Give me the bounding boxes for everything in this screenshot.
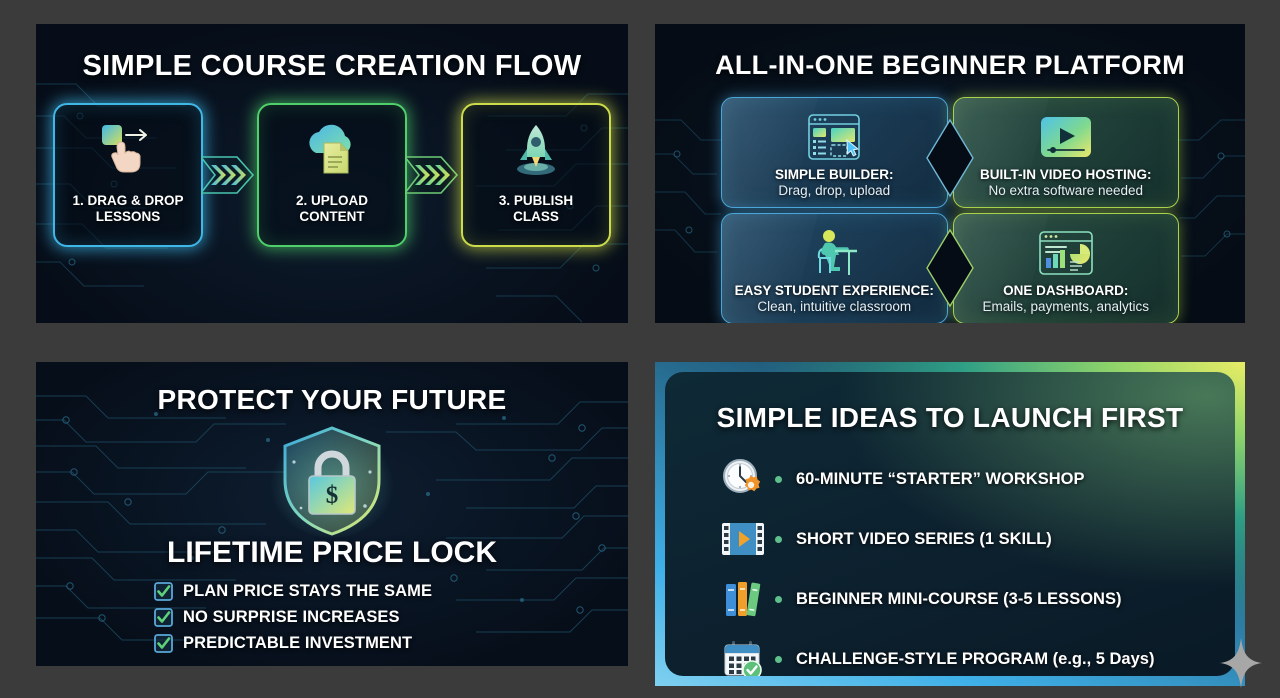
feature-card-one-dashboard[interactable]: ONE DASHBOARD: Emails, payments, analyti… — [953, 213, 1180, 323]
page-title: PROTECT YOUR FUTURE — [36, 384, 628, 416]
list-item[interactable]: NO SURPRISE INCREASES — [154, 608, 628, 627]
feature-card-subtitle: Clean, intuitive classroom — [757, 299, 911, 314]
check-label: PREDICTABLE INVESTMENT — [183, 634, 412, 653]
flow-step-upload-content[interactable]: 2. UPLOAD CONTENT — [257, 103, 407, 247]
bullet-dot — [775, 656, 782, 663]
section-subtitle: LIFETIME PRICE LOCK — [36, 536, 628, 570]
check-label: NO SURPRISE INCREASES — [183, 608, 400, 627]
bullet-dot — [775, 536, 782, 543]
rocket-launch-icon — [507, 119, 565, 181]
guarantee-check-list: PLAN PRICE STAYS THE SAME NO SURPRISE IN… — [154, 582, 628, 653]
books-stack-icon — [717, 576, 769, 622]
feature-card-grid: SIMPLE BUILDER: Drag, drop, upload BUILT — [655, 81, 1245, 323]
checkbox-checked-icon — [154, 634, 173, 653]
page-builder-window-icon — [807, 110, 861, 164]
triple-chevron-arrow-icon — [201, 147, 259, 203]
clock-gear-icon — [717, 456, 769, 502]
panel-protect-your-future: PROTECT YOUR FUTURE $ — [36, 362, 628, 666]
calendar-check-icon — [717, 636, 769, 676]
student-at-desk-icon — [805, 226, 863, 280]
checkbox-checked-icon — [154, 582, 173, 601]
list-item[interactable]: PREDICTABLE INVESTMENT — [154, 634, 628, 653]
list-item[interactable]: SHORT VIDEO SERIES (1 SKILL) — [717, 516, 1235, 562]
feature-card-subtitle: Drag, drop, upload — [778, 183, 890, 198]
cloud-upload-document-icon — [300, 119, 364, 181]
shield-dollar-padlock-icon: $ — [36, 422, 628, 534]
flow-step-row: 1. DRAG & DROP LESSONS — [36, 103, 628, 247]
flow-step-drag-drop[interactable]: 1. DRAG & DROP LESSONS — [53, 103, 203, 247]
panel-inner-surface: SIMPLE IDEAS TO LAUNCH FIRST — [665, 372, 1235, 676]
panel-allinone-platform: ALL-IN-ONE BEGINNER PLATFORM — [655, 24, 1245, 323]
drag-drop-hand-icon — [97, 119, 159, 181]
idea-label: BEGINNER MINI-COURSE (3-5 LESSONS) — [796, 590, 1121, 609]
triple-chevron-arrow-icon — [405, 147, 463, 203]
flow-step-label: 2. UPLOAD CONTENT — [296, 193, 368, 225]
page-title: ALL-IN-ONE BEGINNER PLATFORM — [655, 50, 1245, 81]
feature-card-subtitle: Emails, payments, analytics — [982, 299, 1149, 314]
video-player-icon — [1039, 110, 1093, 164]
flow-step-label: 3. PUBLISH CLASS — [499, 193, 573, 225]
feature-card-subtitle: No extra software needed — [988, 183, 1143, 198]
idea-label: SHORT VIDEO SERIES (1 SKILL) — [796, 530, 1052, 549]
svg-text:$: $ — [326, 482, 339, 509]
feature-card-title: SIMPLE BUILDER: — [775, 167, 894, 182]
list-item[interactable]: BEGINNER MINI-COURSE (3-5 LESSONS) — [717, 576, 1235, 622]
panel-simple-ideas: SIMPLE IDEAS TO LAUNCH FIRST — [655, 362, 1245, 686]
checkbox-checked-icon — [154, 608, 173, 627]
list-item[interactable]: 60-MINUTE “STARTER” WORKSHOP — [717, 456, 1235, 502]
list-item[interactable]: CHALLENGE-STYLE PROGRAM (e.g., 5 Days) — [717, 636, 1235, 676]
sparkle-star-icon — [1218, 636, 1264, 690]
panel-course-creation-flow: SIMPLE COURSE CREATION FLOW 1. DRAG & DR… — [36, 24, 628, 323]
feature-card-simple-builder[interactable]: SIMPLE BUILDER: Drag, drop, upload — [721, 97, 948, 208]
list-item[interactable]: PLAN PRICE STAYS THE SAME — [154, 582, 628, 601]
feature-card-student-experience[interactable]: EASY STUDENT EXPERIENCE: Clean, intuitiv… — [721, 213, 948, 323]
flow-step-publish-class[interactable]: 3. PUBLISH CLASS — [461, 103, 611, 247]
feature-card-title: ONE DASHBOARD: — [1003, 283, 1128, 298]
film-strip-play-icon — [717, 516, 769, 562]
infographic-canvas: SIMPLE COURSE CREATION FLOW 1. DRAG & DR… — [0, 0, 1280, 698]
bullet-dot — [775, 596, 782, 603]
idea-label: 60-MINUTE “STARTER” WORKSHOP — [796, 470, 1084, 489]
feature-card-video-hosting[interactable]: BUILT-IN VIDEO HOSTING: No extra softwar… — [953, 97, 1180, 208]
page-title: SIMPLE COURSE CREATION FLOW — [36, 50, 628, 83]
check-label: PLAN PRICE STAYS THE SAME — [183, 582, 432, 601]
analytics-dashboard-icon — [1038, 226, 1094, 280]
flow-step-label: 1. DRAG & DROP LESSONS — [72, 193, 183, 225]
feature-card-title: BUILT-IN VIDEO HOSTING: — [980, 167, 1152, 182]
feature-card-title: EASY STUDENT EXPERIENCE: — [735, 283, 934, 298]
page-title: SIMPLE IDEAS TO LAUNCH FIRST — [665, 402, 1235, 434]
bullet-dot — [775, 476, 782, 483]
idea-list: 60-MINUTE “STARTER” WORKSHOP — [717, 456, 1235, 676]
idea-label: CHALLENGE-STYLE PROGRAM (e.g., 5 Days) — [796, 650, 1154, 669]
